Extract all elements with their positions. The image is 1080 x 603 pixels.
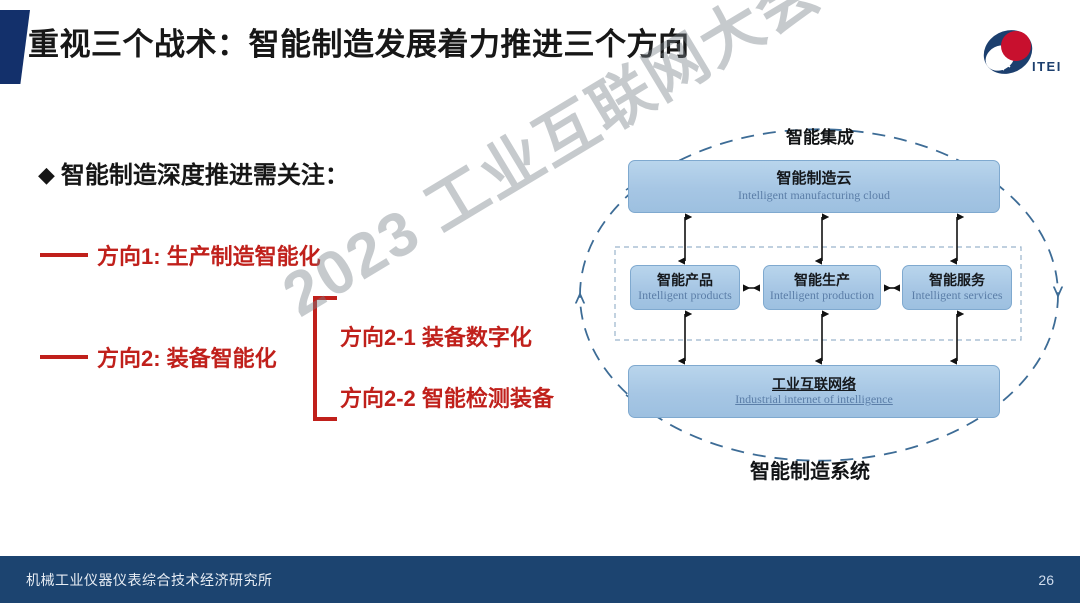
bullet-heading-label: 智能制造深度推进需关注：	[61, 162, 349, 189]
diagram-box-network-en: Industrial internet of intelligence	[735, 393, 893, 407]
diagram-box-products: 智能产品 Intelligent products	[630, 265, 740, 310]
sub-direction-label-1: 方向2-1 装备数字化	[340, 320, 532, 352]
diagram-box-cloud: 智能制造云 Intelligent manufacturing cloud	[628, 160, 1000, 213]
diamond-bullet-icon: ◆	[38, 162, 55, 188]
diagram-box-services: 智能服务 Intelligent services	[902, 265, 1012, 310]
footer-page-number: 26	[1038, 572, 1054, 588]
slide-canvas: 重视三个战术：智能制造发展着力推进三个方向 ITEI ◆智能制造深度推进需关注：…	[0, 0, 1080, 603]
direction-dash-icon	[40, 355, 88, 359]
diagram-box-network: 工业互联网络 Industrial internet of intelligen…	[628, 365, 1000, 418]
direction-label-1: 方向1: 生产制造智能化	[97, 239, 321, 271]
direction-dash-icon	[40, 253, 88, 257]
sub-direction-label-2: 方向2-2 智能检测装备	[340, 381, 554, 413]
footer-organization: 机械工业仪器仪表综合技术经济研究所	[26, 570, 273, 590]
header-accent-shape	[0, 10, 30, 84]
bullet-heading: ◆智能制造深度推进需关注：	[38, 155, 349, 190]
itei-logo-icon: ITEI	[970, 24, 1066, 84]
diagram-box-products-en: Intelligent products	[638, 289, 732, 303]
diagram-box-production: 智能生产 Intelligent production	[763, 265, 881, 310]
diagram-box-production-en: Intelligent production	[770, 289, 874, 303]
direction-label-2: 方向2: 装备智能化	[97, 341, 277, 373]
diagram-box-cloud-en: Intelligent manufacturing cloud	[738, 189, 890, 203]
diagram-box-services-en: Intelligent services	[912, 289, 1003, 303]
itei-logo: ITEI	[970, 24, 1066, 84]
slide-footer: 机械工业仪器仪表综合技术经济研究所 26	[0, 556, 1080, 603]
page-title: 重视三个战术：智能制造发展着力推进三个方向	[28, 26, 690, 65]
diagram-caption-top: 智能集成	[560, 123, 1080, 148]
direction-item-1: 方向1: 生产制造智能化	[40, 239, 321, 271]
smart-manufacturing-diagram: 智能集成 智能制造云 Intelligent manufacturing clo…	[560, 95, 1080, 495]
diagram-box-production-cn: 智能生产	[794, 272, 850, 288]
svg-text:ITEI: ITEI	[1032, 59, 1062, 74]
diagram-box-services-cn: 智能服务	[929, 272, 985, 288]
diagram-box-products-cn: 智能产品	[657, 272, 713, 288]
red-bracket-shape	[313, 296, 337, 421]
direction-item-2: 方向2: 装备智能化	[40, 341, 277, 373]
diagram-box-network-cn: 工业互联网络	[772, 376, 856, 392]
diagram-caption-bottom: 智能制造系统	[560, 455, 1060, 484]
diagram-box-cloud-cn: 智能制造云	[776, 170, 851, 187]
